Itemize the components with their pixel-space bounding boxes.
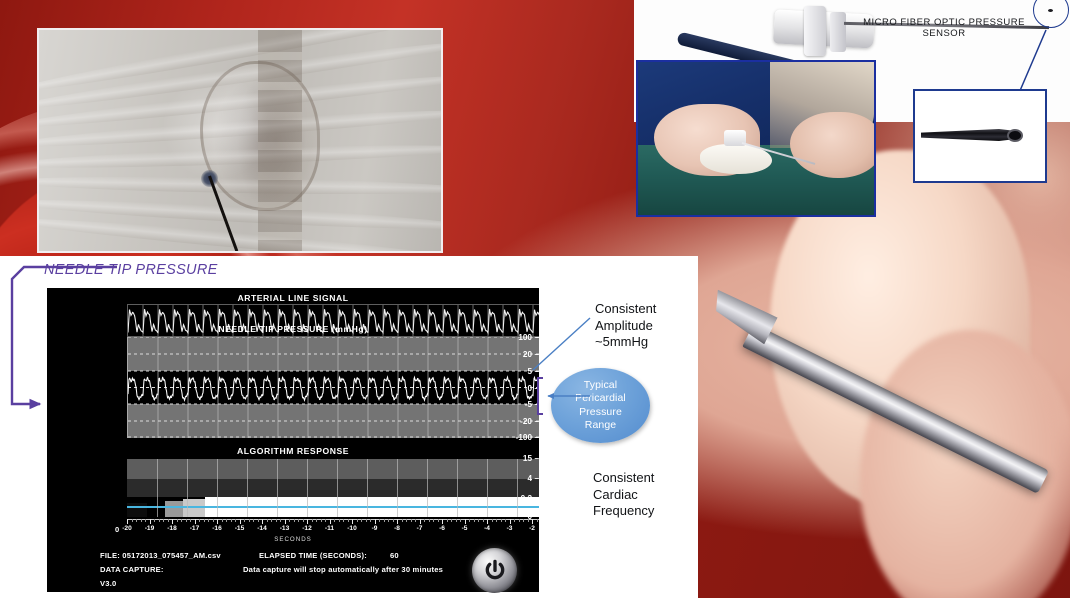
- y-tick--100: -100–: [465, 433, 539, 442]
- catheter-wing: [804, 6, 826, 56]
- x-tick--11: -11: [325, 525, 334, 532]
- alg-y-tick-0.2: 0.2–: [465, 494, 539, 503]
- needle-bore: [1007, 129, 1023, 142]
- consistent-amplitude-annotation: Consistent Amplitude ~5mmHg: [595, 301, 656, 351]
- x-tick--17: -17: [190, 525, 200, 532]
- y-tick-0: 0–: [465, 384, 539, 393]
- catheter-wing-secondary: [830, 12, 846, 52]
- sensor-point-marker: [1048, 9, 1053, 12]
- x-tick--10: -10: [347, 525, 357, 532]
- badge-line-1: Typical: [575, 379, 626, 393]
- x-tick--20: -20: [122, 525, 132, 532]
- fluoroscopy-panel: [37, 28, 443, 253]
- power-button[interactable]: [472, 548, 517, 593]
- arterial-line-title: ARTERIAL LINE SIGNAL: [47, 293, 539, 303]
- x-tick--7: -7: [417, 525, 423, 532]
- power-icon: [482, 558, 508, 584]
- y-tick--20: -20–: [465, 417, 539, 426]
- x-tick--3: -3: [507, 525, 513, 532]
- x-tick--15: -15: [235, 525, 245, 532]
- x-tick--9: -9: [372, 525, 378, 532]
- x-tick--16: -16: [212, 525, 222, 532]
- alg-y-tick-4: 4–: [465, 474, 539, 483]
- freq-line-1: Consistent: [593, 470, 654, 487]
- x-tick--5: -5: [462, 525, 468, 532]
- badge-line-4: Range: [575, 419, 626, 433]
- version-label: V3.0: [100, 579, 116, 588]
- consistent-frequency-annotation: Consistent Cardiac Frequency: [593, 470, 654, 520]
- x-tick--4: -4: [484, 525, 490, 532]
- algorithm-threshold-line: [127, 506, 539, 508]
- x-tick--8: -8: [394, 525, 400, 532]
- algorithm-response-chart-wrap: 15–4–0.2–0–: [47, 456, 539, 518]
- y-tick-20: 20–: [465, 350, 539, 359]
- freq-line-2: Cardiac: [593, 487, 654, 504]
- surgical-photo: [636, 60, 876, 217]
- pressure-monitor-screen[interactable]: ARTERIAL LINE SIGNAL NEEDLE TIP PRESSURE…: [47, 288, 539, 592]
- x-tick--14: -14: [257, 525, 267, 532]
- elapsed-time-value: 60: [390, 551, 399, 560]
- data-capture-label: DATA CAPTURE:: [100, 565, 164, 574]
- data-capture-message: Data capture will stop automatically aft…: [243, 565, 443, 574]
- typical-pericardial-range-badge: Typical Pericardial Pressure Range: [551, 368, 650, 443]
- axis-origin-label: 0: [115, 525, 119, 534]
- alg-y-tick-15: 15–: [465, 454, 539, 463]
- needle-tip-pressure-chart-wrap: 100–20–5–0–-5–-20–-100–: [47, 334, 539, 442]
- badge-line-3: Pressure: [575, 406, 626, 420]
- y-tick--5: -5–: [465, 400, 539, 409]
- y-tick-100: 100–: [465, 333, 539, 342]
- amp-line-1: Consistent: [595, 301, 656, 318]
- x-tick--18: -18: [167, 525, 177, 532]
- x-tick--2: -2: [529, 525, 535, 532]
- file-row: FILE: 05172013_075457_AM.csv: [100, 551, 221, 560]
- badge-text: Typical Pericardial Pressure Range: [575, 379, 626, 433]
- elapsed-time-label: ELAPSED TIME (SECONDS):: [259, 551, 367, 560]
- fluoroscopy-image: [39, 30, 441, 251]
- needle-tip-pressure-title: NEEDLE TIP PRESSURE: [44, 262, 218, 278]
- x-tick--13: -13: [280, 525, 290, 532]
- x-tick--6: -6: [439, 525, 445, 532]
- freq-line-3: Frequency: [593, 503, 654, 520]
- algorithm-response-chart[interactable]: [127, 459, 539, 517]
- badge-line-2: Pericardial: [575, 392, 626, 406]
- alg-fill-seg1: [165, 501, 183, 517]
- amp-line-2: Amplitude: [595, 318, 656, 335]
- x-tick--12: -12: [302, 525, 312, 532]
- needle-tip-closeup: [921, 129, 1021, 141]
- amp-line-3: ~5mmHg: [595, 334, 656, 351]
- seconds-axis-label: SECONDS: [47, 536, 539, 543]
- sensor-label: MICRO FIBER OPTIC PRESSURE SENSOR: [849, 17, 1039, 39]
- file-label: FILE:: [100, 551, 120, 560]
- file-value: 05172013_075457_AM.csv: [122, 551, 221, 560]
- spine-shadow: [258, 30, 302, 251]
- y-tick-5: 5–: [465, 367, 539, 376]
- x-tick--19: -19: [145, 525, 155, 532]
- seconds-axis: -20-19-18-17-16-15-14-13-12-11-10-9-8-7-…: [127, 519, 539, 535]
- needle-tip-inset: [913, 89, 1047, 183]
